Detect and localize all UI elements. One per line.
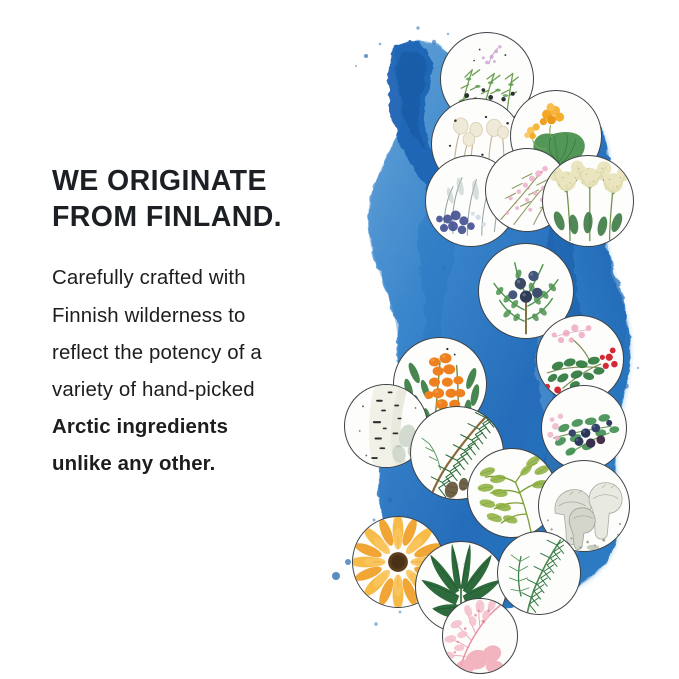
body-line-2: Finnish wilderness to — [52, 298, 352, 335]
body-line-5: Arctic ingredients — [52, 409, 352, 446]
map-of-finland — [330, 0, 679, 679]
body-line-1: Carefully crafted with — [52, 260, 352, 297]
copy-block: WE ORIGINATE FROM FINLAND. Carefully cra… — [52, 163, 352, 483]
medallion-blueberry — [541, 385, 627, 471]
body-line-4: variety of hand-picked — [52, 372, 352, 409]
medallion-pink-willowherb — [442, 598, 518, 674]
page-title: WE ORIGINATE FROM FINLAND. — [52, 163, 352, 235]
poster-canvas: WE ORIGINATE FROM FINLAND. Carefully cra… — [0, 0, 679, 679]
medallion-meadowsweet — [542, 155, 634, 247]
medallion-spruce-shoot — [497, 531, 581, 615]
body-copy: Carefully crafted withFinnish wilderness… — [52, 260, 352, 483]
body-line-6: unlike any other. — [52, 446, 352, 483]
body-line-3: reflect the potency of a — [52, 335, 352, 372]
